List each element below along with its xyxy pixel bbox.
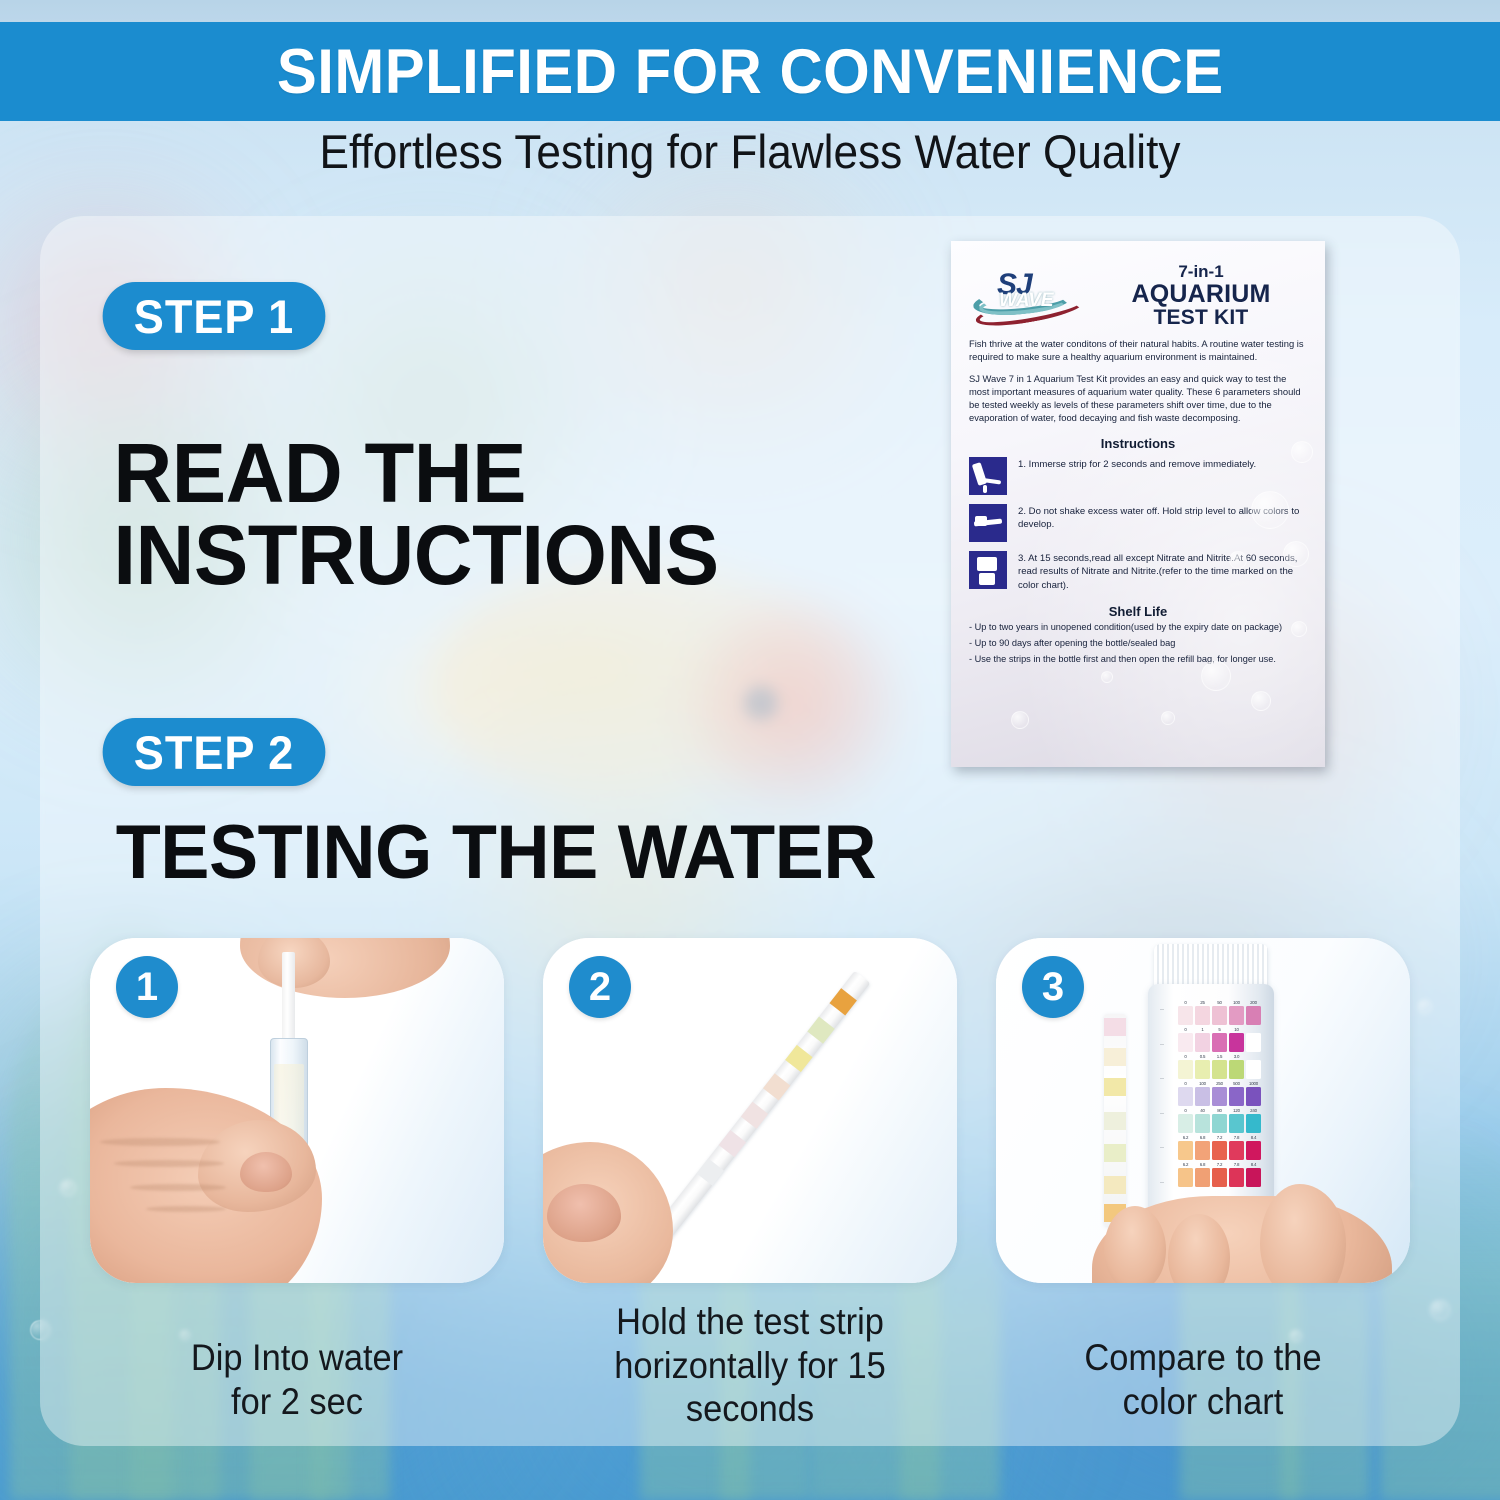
color-chart-row-labels: 02550100200 (1178, 1000, 1266, 1005)
sj-wave-logo-icon: SJ WAVE (969, 268, 1087, 324)
leaflet-instruction-item: 1. Immerse strip for 2 seconds and remov… (969, 457, 1307, 495)
photo-2-strip-pad (785, 1045, 812, 1072)
leaflet-decorative-bubble (1011, 711, 1029, 729)
color-chart-row: 04080120240 (1178, 1108, 1266, 1133)
color-chart-swatch (1246, 1006, 1261, 1025)
leaflet-decorative-bubble (1161, 711, 1175, 725)
color-chart-row: 01510 (1178, 1027, 1266, 1052)
leaflet-instructions-heading: Instructions (969, 436, 1307, 451)
photo-caption-3: Compare to thecolor chart (1010, 1336, 1395, 1423)
color-chart-swatch (1195, 1168, 1210, 1187)
color-chart-swatch (1178, 1060, 1193, 1079)
photo-2-strip-pad (719, 1130, 746, 1157)
photo-2-strip-pad (829, 988, 856, 1015)
photo-1-thumbnail (240, 1152, 292, 1192)
color-chart-swatch (1195, 1006, 1210, 1025)
color-chart-swatch (1195, 1114, 1210, 1133)
caption-line: for 2 sec (104, 1380, 489, 1424)
color-chart-swatch (1195, 1141, 1210, 1160)
color-chart-swatch (1195, 1060, 1210, 1079)
step-2-heading-line-1: TESTING THE WATER (116, 816, 876, 890)
color-chart-row: 00.51.53.0 (1178, 1054, 1266, 1079)
leaflet-shelf-life-item: - Use the strips in the bottle first and… (969, 653, 1307, 666)
page-subtitle: Effortless Testing for Flawless Water Qu… (45, 124, 1455, 179)
photo-3-color-chart: 025501002000151000.51.53.001002505001000… (1162, 1000, 1266, 1222)
color-chart-swatch (1229, 1114, 1244, 1133)
photo-2-thumbnail (547, 1184, 621, 1242)
color-chart-swatch (1246, 1168, 1261, 1187)
header-bar: SIMPLIFIED FOR CONVENIENCE (0, 22, 1500, 121)
leaflet-decorative-bubble (1291, 621, 1307, 637)
color-chart-swatch (1178, 1087, 1193, 1106)
color-chart-row: 6.26.87.27.88.4 (1178, 1135, 1266, 1160)
step-2-heading: TESTING THE WATER (116, 816, 876, 890)
color-chart-swatch (1178, 1168, 1193, 1187)
color-chart-swatch (1195, 1033, 1210, 1052)
photo-2-strip-pad (807, 1017, 834, 1044)
leaflet-decorative-bubble (1229, 551, 1247, 569)
color-chart-row-labels: 01002505001000 (1178, 1081, 1266, 1086)
color-chart-swatch (1246, 1060, 1261, 1079)
leaflet-decorative-bubble (1201, 661, 1231, 691)
color-chart-swatch (1195, 1087, 1210, 1106)
color-chart-row-swatches (1178, 1033, 1266, 1052)
step-1-heading: READ THE INSTRUCTIONS (113, 432, 718, 597)
leaflet-decorative-bubble (1251, 691, 1271, 711)
leaflet-decorative-bubble (1251, 491, 1289, 529)
leaflet-title-line-1: 7-in-1 (1095, 263, 1307, 281)
color-chart-swatch (1178, 1033, 1193, 1052)
color-chart-swatch (1178, 1114, 1193, 1133)
color-chart-swatch (1212, 1141, 1227, 1160)
leaflet-instruction-text: 3. At 15 seconds,read all except Nitrate… (1018, 551, 1307, 593)
leaflet-decorative-bubble (1101, 671, 1113, 683)
color-chart-swatch (1212, 1006, 1227, 1025)
color-chart-row: 02550100200 (1178, 1000, 1266, 1025)
leaflet-shelf-life-heading: Shelf Life (969, 604, 1307, 619)
photo-2-test-strip (652, 971, 871, 1243)
photo-caption-2: Hold the test striphorizontally for 15se… (557, 1300, 942, 1431)
step-1-heading-line-1: READ THE (113, 432, 718, 514)
leaflet-title: 7-in-1 AQUARIUM TEST KIT (1095, 263, 1307, 329)
caption-line: seconds (557, 1387, 942, 1431)
leaflet-instruction-item: 3. At 15 seconds,read all except Nitrate… (969, 551, 1307, 593)
leaflet-shelf-life-list: - Up to two years in unopened condition(… (969, 621, 1307, 666)
photo-3-test-strip (1104, 1014, 1126, 1226)
color-chart-swatch (1212, 1087, 1227, 1106)
photo-2-strip-pad (763, 1073, 790, 1100)
color-chart-row: 6.26.87.27.88.4 (1178, 1162, 1266, 1187)
leaflet-header: SJ WAVE 7-in-1 AQUARIUM TEST KIT (969, 263, 1307, 329)
color-chart-swatch (1212, 1168, 1227, 1187)
color-chart-row-swatches (1178, 1060, 1266, 1079)
color-chart-swatch (1229, 1060, 1244, 1079)
leaflet-instruction-list: 1. Immerse strip for 2 seconds and remov… (969, 457, 1307, 593)
leaflet-decorative-bubble (1291, 441, 1313, 463)
photo-number-badge-2: 2 (569, 956, 631, 1018)
logo-wave-text: WAVE (999, 290, 1054, 312)
leaflet-decorative-bubble (1283, 541, 1309, 567)
caption-line: Compare to the (1010, 1336, 1395, 1380)
color-chart-row-swatches (1178, 1114, 1266, 1133)
hand-comparing-chart-icon (969, 551, 1007, 589)
color-chart-row-labels: 00.51.53.0 (1178, 1054, 1266, 1059)
leaflet-instruction-text: 1. Immerse strip for 2 seconds and remov… (1018, 457, 1256, 472)
photo-2-strip-pad (741, 1102, 768, 1129)
color-chart-swatch (1178, 1006, 1193, 1025)
step-badge-1: STEP 1 (103, 282, 326, 350)
color-chart-swatch (1246, 1141, 1261, 1160)
color-chart-swatch (1229, 1141, 1244, 1160)
infographic-canvas: SIMPLIFIED FOR CONVENIENCE Effortless Te… (0, 0, 1500, 1500)
color-chart-swatch (1229, 1168, 1244, 1187)
color-chart-row-labels: 01510 (1178, 1027, 1266, 1032)
color-chart-row-swatches (1178, 1141, 1266, 1160)
color-chart-swatch (1246, 1033, 1261, 1052)
caption-line: Dip Into water (104, 1336, 489, 1380)
color-chart-swatch (1212, 1033, 1227, 1052)
step-badge-2: STEP 2 (103, 718, 326, 786)
color-chart-swatch (1229, 1006, 1244, 1025)
color-chart-swatch (1229, 1033, 1244, 1052)
photo-caption-1: Dip Into waterfor 2 sec (104, 1336, 489, 1423)
color-chart-swatch (1246, 1087, 1261, 1106)
color-chart-row-labels: 6.26.87.27.88.4 (1178, 1162, 1266, 1167)
color-chart-swatch (1246, 1114, 1261, 1133)
color-chart-swatch (1212, 1114, 1227, 1133)
color-chart-row-swatches (1178, 1006, 1266, 1025)
hand-holding-strip-level-icon (969, 504, 1007, 542)
color-chart-row-labels: 6.26.87.27.88.4 (1178, 1135, 1266, 1140)
color-chart-swatch (1178, 1141, 1193, 1160)
photo-2-strip-pad (696, 1158, 723, 1185)
instruction-leaflet: SJ WAVE 7-in-1 AQUARIUM TEST KIT Fish th… (951, 241, 1325, 767)
color-chart-row-labels: 04080120240 (1178, 1108, 1266, 1113)
photo-number-badge-1: 1 (116, 956, 178, 1018)
leaflet-shelf-life-item: - Up to two years in unopened condition(… (969, 621, 1307, 634)
photo-3-finger (1104, 1206, 1166, 1283)
step-1-heading-line-2: INSTRUCTIONS (113, 514, 718, 596)
leaflet-paragraph-1: Fish thrive at the water conditons of th… (969, 338, 1307, 364)
leaflet-paragraph-2: SJ Wave 7 in 1 Aquarium Test Kit provide… (969, 373, 1307, 425)
hand-dipping-strip-icon (969, 457, 1007, 495)
color-chart-row-swatches (1178, 1168, 1266, 1187)
color-chart-row: 01002505001000 (1178, 1081, 1266, 1106)
photo-panel-3: ——————— 025501002000151000.51.53.0010025… (996, 938, 1410, 1283)
caption-line: horizontally for 15 (557, 1344, 942, 1388)
photo-panel-1: 1 (90, 938, 504, 1283)
leaflet-title-line-2: AQUARIUM (1095, 281, 1307, 307)
caption-line: Hold the test strip (557, 1300, 942, 1344)
page-title: SIMPLIFIED FOR CONVENIENCE (277, 36, 1224, 108)
caption-line: color chart (1010, 1380, 1395, 1424)
photo-number-badge-3: 3 (1022, 956, 1084, 1018)
color-chart-row-swatches (1178, 1087, 1266, 1106)
leaflet-shelf-life-item: - Up to 90 days after opening the bottle… (969, 637, 1307, 650)
photo-panel-2: 2 (543, 938, 957, 1283)
color-chart-swatch (1212, 1060, 1227, 1079)
color-chart-swatch (1229, 1087, 1244, 1106)
leaflet-title-line-3: TEST KIT (1095, 307, 1307, 329)
